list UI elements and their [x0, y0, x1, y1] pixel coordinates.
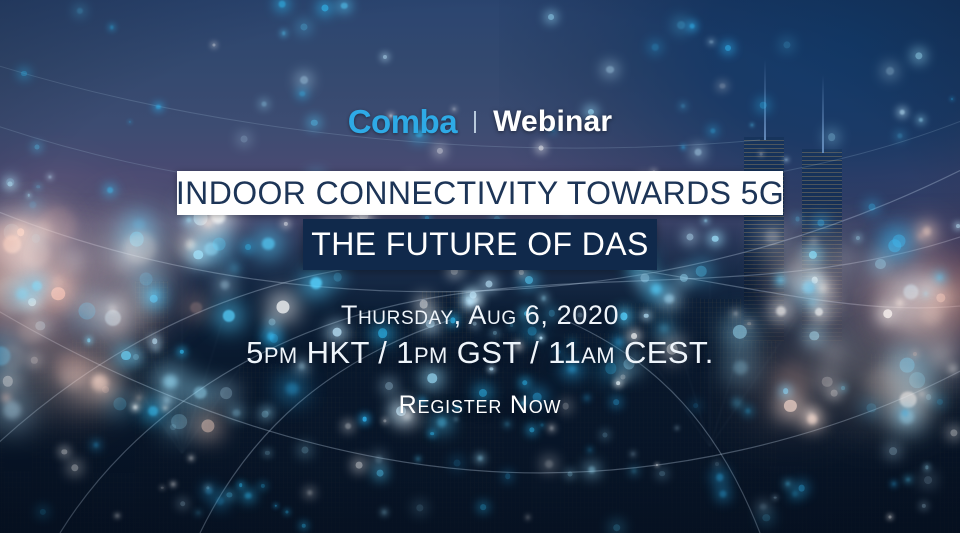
webinar-poster: Comba Webinar INDOOR CONNECTIVITY TOWARD… — [0, 0, 960, 533]
comba-logo: Comba — [348, 103, 457, 141]
webinar-times: 5pm HKT / 1pm GST / 11am CEST. — [0, 335, 960, 371]
title-banner-primary: INDOOR CONNECTIVITY TOWARDS 5G — [177, 171, 783, 215]
brand-separator-icon — [474, 111, 476, 133]
schedule-block: Thursday, Aug 6, 2020 5pm HKT / 1pm GST … — [0, 300, 960, 371]
brand-header: Comba Webinar — [0, 103, 960, 141]
webinar-date: Thursday, Aug 6, 2020 — [0, 300, 960, 331]
register-now-link[interactable]: Register Now — [0, 391, 960, 420]
poster-content: Comba Webinar INDOOR CONNECTIVITY TOWARD… — [0, 0, 960, 533]
title-line-2: THE FUTURE OF DAS — [311, 226, 648, 263]
title-banner-secondary: THE FUTURE OF DAS — [303, 219, 657, 270]
title-line-1: INDOOR CONNECTIVITY TOWARDS 5G — [176, 175, 784, 212]
webinar-label: Webinar — [493, 105, 612, 139]
